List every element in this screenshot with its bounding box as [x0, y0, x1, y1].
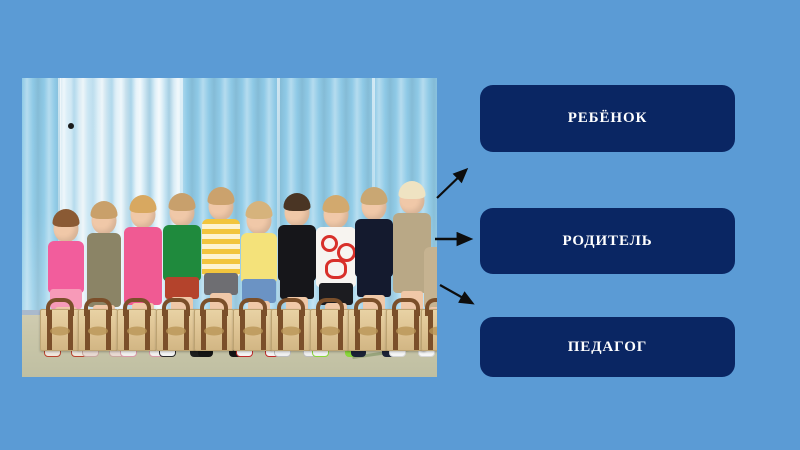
- suitcase-emblem: [320, 326, 340, 335]
- hair: [246, 201, 273, 219]
- tshirt: [241, 233, 277, 283]
- black-dot-mark: [68, 123, 74, 129]
- suitcase: [233, 309, 273, 351]
- arrow-to-child: [437, 170, 466, 198]
- hair: [399, 181, 426, 199]
- suitcase: [271, 309, 311, 351]
- group-photo-children-with-suitcases: [22, 78, 437, 377]
- suitcase-emblem: [88, 326, 108, 335]
- box-child-label: РЕБЁНОК: [568, 110, 648, 127]
- suitcase: [386, 309, 426, 351]
- box-parent-label: РОДИТЕЛЬ: [562, 233, 652, 250]
- suitcase-emblem: [204, 326, 224, 335]
- suitcase: [156, 309, 196, 351]
- suitcase: [194, 309, 234, 351]
- suitcase: [421, 309, 437, 351]
- torso: [48, 241, 84, 293]
- suitcase-emblem: [358, 326, 378, 335]
- hair: [53, 209, 80, 227]
- suitcase: [40, 309, 80, 351]
- suitcase-emblem: [127, 326, 147, 335]
- suitcase-emblem: [50, 326, 70, 335]
- dress: [124, 227, 162, 305]
- suitcase: [348, 309, 388, 351]
- hair: [361, 187, 388, 205]
- tshirt: [355, 219, 393, 277]
- shorts: [280, 277, 314, 299]
- box-teacher[interactable]: ПЕДАГОГ: [480, 317, 735, 377]
- hair: [91, 201, 118, 219]
- hair: [208, 187, 235, 205]
- suitcase-emblem: [396, 326, 416, 335]
- box-child[interactable]: РЕБЁНОК: [480, 85, 735, 152]
- box-parent[interactable]: РОДИТЕЛЬ: [480, 208, 735, 274]
- patterned-tunic: [316, 227, 356, 287]
- suitcase: [117, 309, 157, 351]
- tshirt: [163, 225, 201, 281]
- suitcase: [78, 309, 118, 351]
- suitcase-emblem: [281, 326, 301, 335]
- shorts: [165, 277, 199, 299]
- box-teacher-label: ПЕДАГОГ: [568, 339, 648, 356]
- hair: [130, 195, 157, 213]
- shorts: [204, 273, 238, 295]
- striped-tshirt: [202, 219, 240, 277]
- arrow-to-teacher: [440, 285, 472, 303]
- hair: [323, 195, 350, 213]
- suitcase: [310, 309, 350, 351]
- shorts: [357, 273, 391, 297]
- suitcase-emblem: [243, 326, 263, 335]
- dress: [87, 233, 121, 307]
- hair: [169, 193, 196, 211]
- slide-canvas: РЕБЁНОК РОДИТЕЛЬ ПЕДАГОГ: [0, 0, 800, 450]
- suitcase-emblem: [166, 326, 186, 335]
- hair: [284, 193, 311, 211]
- tshirt: [278, 225, 316, 281]
